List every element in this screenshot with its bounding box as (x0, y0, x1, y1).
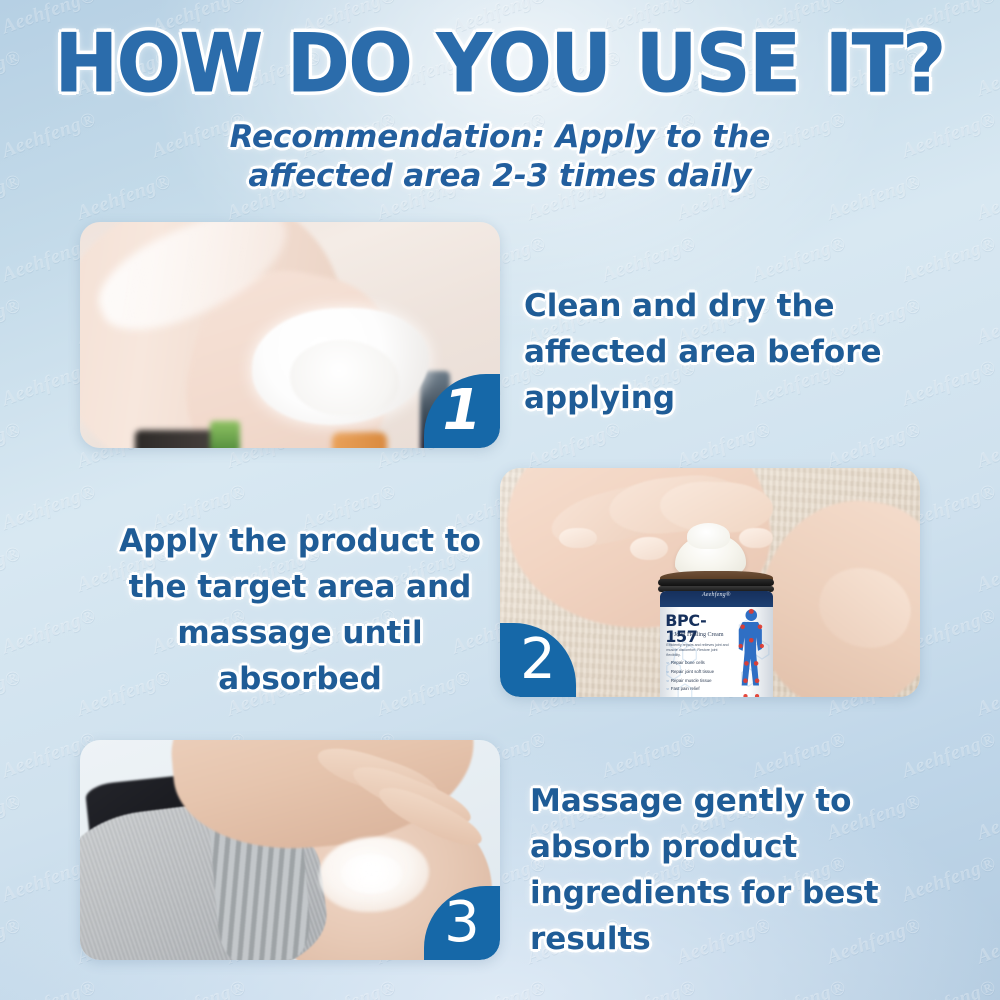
watermark-text: Aeehfeng® (674, 418, 774, 473)
watermark-text: Aeehfeng® (0, 170, 24, 225)
list-item: Fast pain relief (666, 685, 732, 694)
watermark-text: Aeehfeng® (899, 108, 999, 163)
list-item: Repair muscle tissue (666, 677, 732, 686)
watermark-text: Aeehfeng® (974, 46, 1000, 101)
watermark-text: Aeehfeng® (0, 294, 24, 349)
watermark-text: Aeehfeng® (974, 418, 1000, 473)
jar-benefit-list: Repair bone cells Repair joint soft tiss… (666, 659, 732, 693)
list-item: Repair joint soft tissue (666, 668, 732, 677)
jar-product-name: BPC-157 (665, 613, 733, 645)
step-2-photo: Aeehfeng® (500, 468, 920, 697)
watermark-text: Aeehfeng® (899, 976, 999, 1000)
list-item: Repair bone cells (666, 659, 732, 668)
watermark-text: Aeehfeng® (524, 418, 624, 473)
page-title: HOW DO YOU USE IT? (30, 22, 970, 106)
body-pain-figure-icon (732, 606, 771, 697)
watermark-text: Aeehfeng® (824, 418, 924, 473)
recommendation-subtitle: Recommendation: Apply to the affected ar… (190, 118, 810, 196)
watermark-text: Aeehfeng® (0, 666, 24, 721)
watermark-text: Aeehfeng® (749, 232, 849, 287)
watermark-text: Aeehfeng® (599, 976, 699, 1000)
watermark-text: Aeehfeng® (0, 480, 99, 535)
watermark-text: Aeehfeng® (0, 976, 99, 1000)
watermark-text: Aeehfeng® (899, 728, 999, 783)
watermark-text: Aeehfeng® (149, 976, 249, 1000)
jar-product-subtitle: Joint Healing Cream (668, 632, 730, 638)
watermark-text: Aeehfeng® (974, 170, 1000, 225)
watermark-text: Aeehfeng® (0, 108, 99, 163)
watermark-text: Aeehfeng® (0, 46, 24, 101)
watermark-text: Aeehfeng® (974, 914, 1000, 969)
watermark-text: Aeehfeng® (0, 790, 24, 845)
step-1-caption: Clean and dry the affected area before a… (524, 283, 944, 421)
watermark-text: Aeehfeng® (974, 542, 1000, 597)
step-3-photo: 3 (80, 740, 500, 960)
watermark-text: Aeehfeng® (599, 232, 699, 287)
watermark-text: Aeehfeng® (974, 294, 1000, 349)
watermark-text: Aeehfeng® (749, 728, 849, 783)
jar-description: Efficiently repairs and relieves joint a… (666, 643, 732, 659)
step-2-caption: Apply the product to the target area and… (100, 518, 500, 702)
watermark-text: Aeehfeng® (299, 976, 399, 1000)
step-3-caption: Massage gently to absorb product ingredi… (530, 778, 950, 962)
watermark-text: Aeehfeng® (899, 232, 999, 287)
watermark-text: Aeehfeng® (749, 976, 849, 1000)
jar-label: Aeehfeng® (660, 591, 773, 697)
watermark-text: Aeehfeng® (824, 170, 924, 225)
step-1-photo: 1 (80, 222, 500, 448)
watermark-text: Aeehfeng® (0, 914, 24, 969)
watermark-text: Aeehfeng® (0, 604, 99, 659)
watermark-text: Aeehfeng® (74, 170, 174, 225)
product-jar: Aeehfeng® (660, 562, 773, 697)
watermark-text: Aeehfeng® (974, 790, 1000, 845)
watermark-text: Aeehfeng® (599, 728, 699, 783)
watermark-text: Aeehfeng® (0, 542, 24, 597)
watermark-text: Aeehfeng® (449, 976, 549, 1000)
infographic-page: Aeehfeng®Aeehfeng®Aeehfeng®Aeehfeng®Aeeh… (0, 0, 1000, 1000)
watermark-text: Aeehfeng® (0, 418, 24, 473)
watermark-text: Aeehfeng® (974, 666, 1000, 721)
